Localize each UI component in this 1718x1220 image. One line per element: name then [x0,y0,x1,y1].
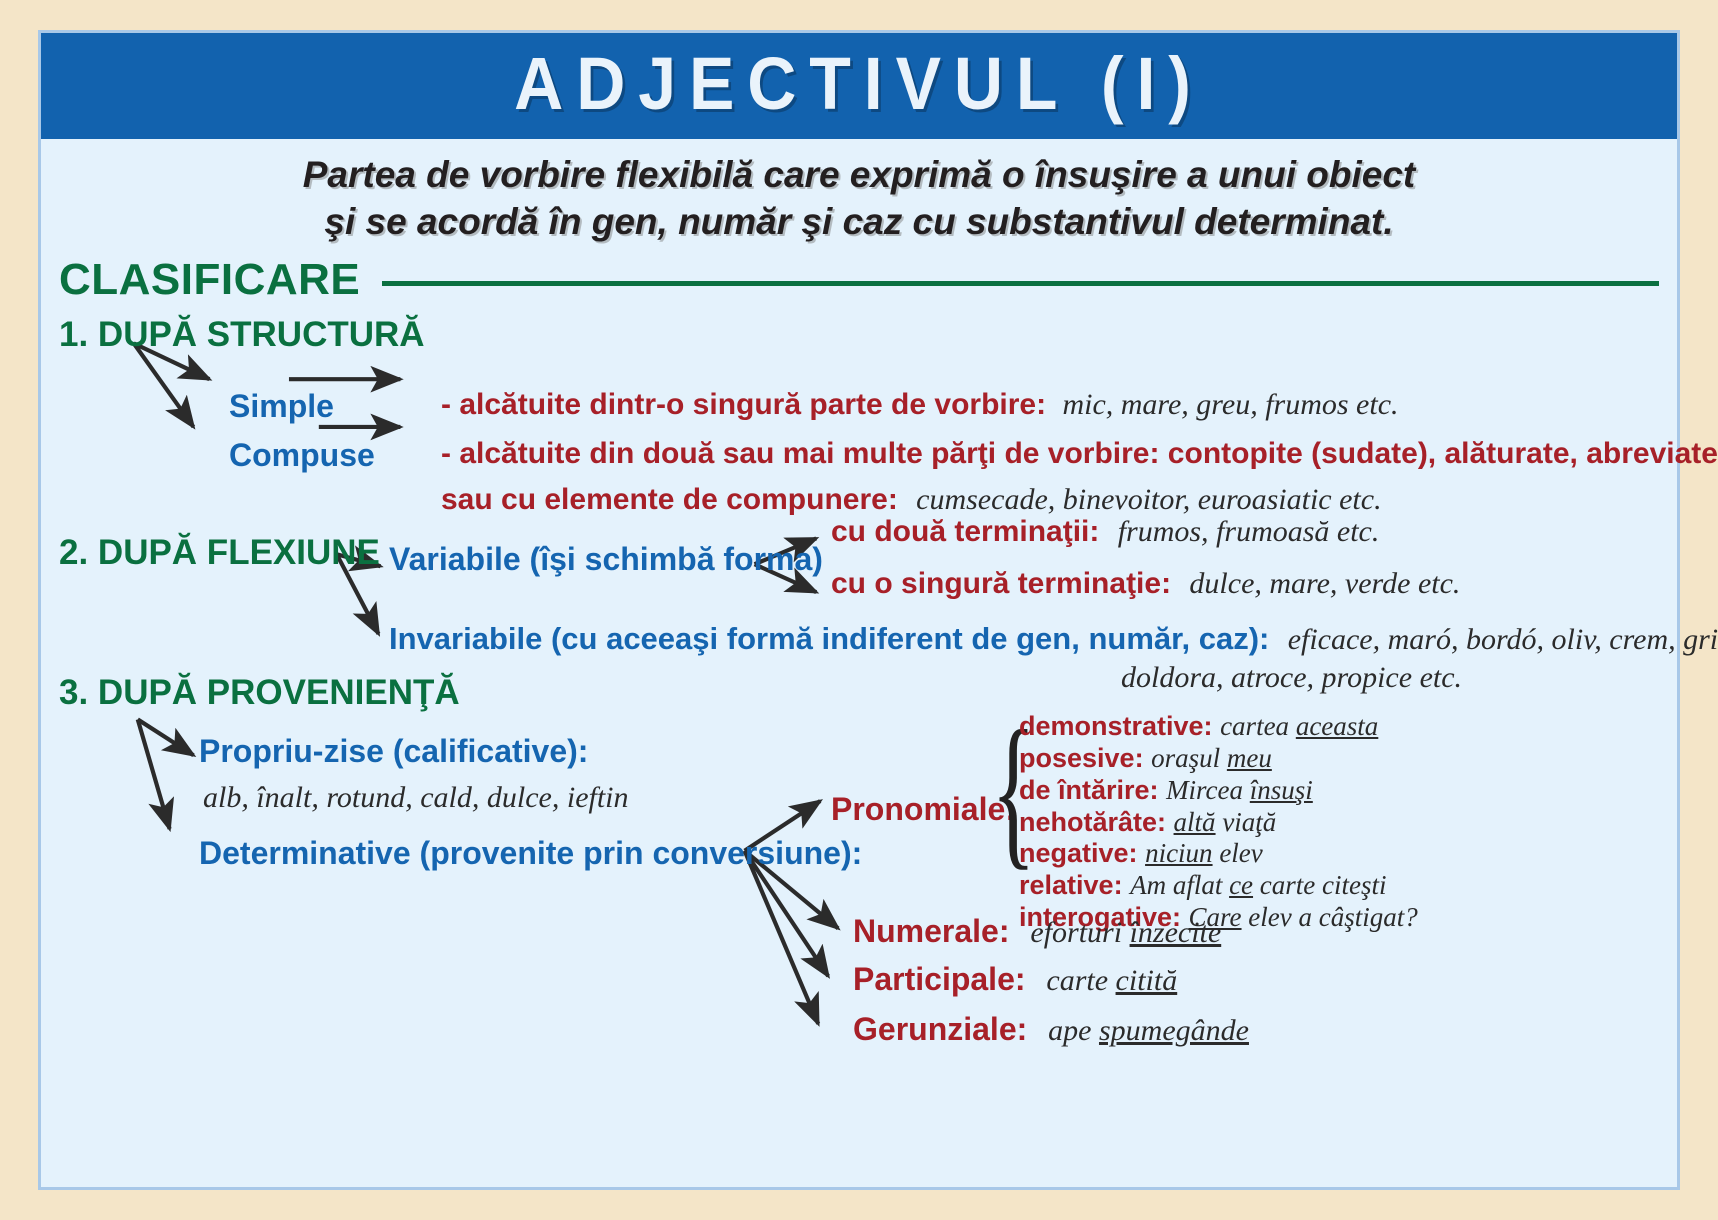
detail-compuse-row-2: sau cu elemente de compunere: cumsecade,… [441,483,1382,517]
pronomiale-example-plain: oraşul [1151,743,1227,773]
pronomiale-kind: posesive: [1019,743,1144,773]
pronomiale-example-plain: Mircea [1166,775,1250,805]
examples-compuse: cumsecade, binevoitor, euroasiatic etc. [916,483,1381,516]
examples-numerale-underlined: înzecite [1130,916,1222,949]
pronomiale-example-underlined: însuşi [1250,775,1313,805]
pronomiale-example-plain: cartea [1220,711,1296,741]
definition-line-1: Partea de vorbire flexibilă care exprimă… [81,151,1637,198]
list-item: de întărire: Mircea însuşi [1019,775,1418,807]
pronomiale-example-plain: Am aflat [1130,870,1229,900]
pronomiale-example-tail: carte citeşti [1253,870,1386,900]
category-propriu-zise: Propriu-zise (calificative): [199,733,588,770]
examples-propriu-zise: alb, înalt, rotund, cald, dulce, ieftin [203,781,629,815]
examples-simple: mic, mare, greu, frumos etc. [1062,388,1398,421]
examples-gerunziale-underlined: spumegânde [1099,1014,1249,1047]
pronomiale-kind: negative: [1019,838,1138,868]
category-gerunziale-row: Gerunziale: ape spumegânde [853,1011,1249,1048]
pronomiale-example-tail: elev [1213,838,1263,868]
category-numerale-row: Numerale: eforturi înzecite [853,913,1221,950]
pronomiale-example-tail: viaţă [1216,807,1277,837]
pronomiale-kind: de întărire: [1019,775,1159,805]
detail-o-terminatie: cu o singură terminaţie: [831,567,1171,600]
pronomiale-kind: demonstrative: [1019,711,1213,741]
category-gerunziale: Gerunziale: [853,1011,1027,1047]
clasificare-label: CLASIFICARE [59,255,360,305]
pronomiale-example-underlined: ce [1229,870,1253,900]
category-participale-row: Participale: carte citită [853,961,1177,998]
definition-line-2: şi se acordă în gen, număr şi caz cu sub… [81,198,1637,245]
examples-o-terminatie: dulce, mare, verde etc. [1189,567,1460,600]
detail-compuse-text: - alcătuite din două sau mai multe părţi… [441,437,1718,471]
pronomiale-kind: nehotărâte: [1019,807,1166,837]
detail-o-terminatie-row: cu o singură terminaţie: dulce, mare, ve… [831,567,1460,601]
category-invariabile-row: Invariabile (cu aceeaşi formă indiferent… [389,621,1718,657]
list-item: negative: niciun elev [1019,838,1418,870]
list-item: nehotărâte: altă viaţă [1019,807,1418,839]
list-item: posesive: oraşul meu [1019,743,1418,775]
category-invariabile: Invariabile (cu aceeaşi formă indiferent… [389,621,1269,656]
pronomiale-example-tail: elev a câştigat? [1242,902,1418,932]
detail-simple-row: - alcătuite dintr-o singură parte de vor… [441,388,1399,422]
pronomiale-example-underlined: meu [1227,743,1272,773]
list-item: relative: Am aflat ce carte citeşti [1019,870,1418,902]
category-simple: Simple [229,388,334,425]
category-pronomiale: Pronomiale: [831,791,1016,828]
poster-panel: ADJECTIVUL (I) Partea de vorbire flexibi… [38,30,1680,1190]
pronomiale-example-underlined: aceasta [1296,711,1378,741]
section-heading-dupa-flexiune: 2. DUPĂ FLEXIUNE [59,533,380,573]
examples-gerunziale-plain: ape [1048,1014,1099,1047]
title-bar: ADJECTIVUL (I) [41,33,1677,139]
examples-participale-underlined: citită [1116,964,1178,997]
examples-participale-plain: carte [1046,964,1115,997]
examples-doua-terminatii: frumos, frumoasă etc. [1118,515,1380,548]
examples-invariabile-line1: eficace, maró, bordó, oliv, crem, gri, [1288,623,1718,656]
category-determinative: Determinative (provenite prin conversiun… [199,835,862,872]
clasificare-divider [382,281,1659,286]
section-heading-dupa-structura: 1. DUPĂ STRUCTURĂ [59,315,425,355]
detail-doua-terminatii: cu două terminaţii: [831,515,1099,548]
pronomiale-example-underlined: altă [1174,807,1216,837]
category-participale: Participale: [853,961,1026,997]
clasificare-heading-row: CLASIFICARE [59,255,1659,305]
definition-text: Partea de vorbire flexibilă care exprimă… [81,151,1637,246]
examples-invariabile-line2: doldora, atroce, propice etc. [1121,661,1462,695]
detail-doua-terminatii-row: cu două terminaţii: frumos, frumoasă etc… [831,515,1379,549]
detail-simple-text: - alcătuite dintr-o singură parte de vor… [441,388,1046,421]
pronomiale-sublist: demonstrative: cartea aceasta posesive: … [1019,711,1418,934]
examples-numerale-plain: eforturi [1030,916,1129,949]
pronomiale-example-underlined: niciun [1145,838,1213,868]
detail-compuse-text-line2: sau cu elemente de compunere: [441,483,898,516]
category-variabile: Variabile (îşi schimbă forma) [389,541,823,578]
category-numerale: Numerale: [853,913,1010,949]
section-heading-dupa-provenienta: 3. DUPĂ PROVENIENŢĂ [59,673,460,713]
pronomiale-kind: relative: [1019,870,1123,900]
list-item: demonstrative: cartea aceasta [1019,711,1418,743]
category-compuse: Compuse [229,437,375,474]
page-title: ADJECTIVUL (I) [106,41,1611,126]
